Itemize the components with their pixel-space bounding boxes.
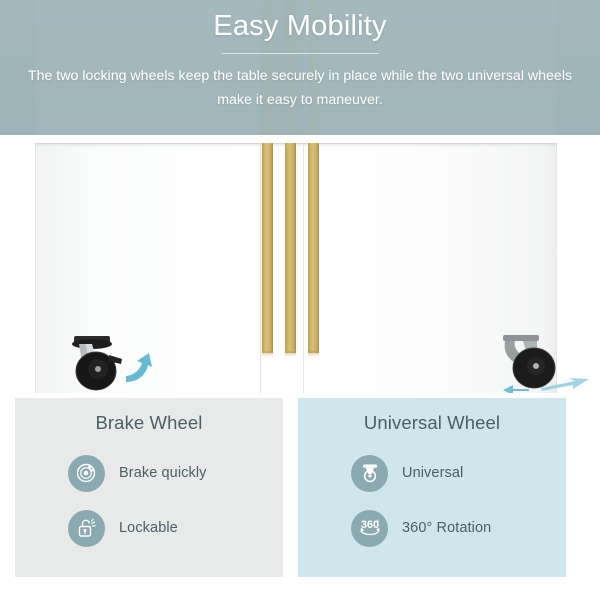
feature-360-rotation: 360 ° 360° Rotation (298, 503, 566, 553)
hero-banner: Easy Mobility The two locking wheels kee… (0, 0, 600, 135)
brake-disc-icon (68, 455, 105, 492)
universal-caster-wheel (497, 333, 597, 393)
cabinet-seam-left (260, 143, 261, 393)
feature-panels: Brake Wheel Brake quickly (0, 393, 600, 600)
feature-label: 360° Rotation (402, 520, 491, 536)
feature-universal: Universal (298, 448, 566, 498)
icon-360-degree: ° (376, 518, 379, 526)
feature-brake-quickly: Brake quickly (15, 448, 283, 498)
infographic-page: Easy Mobility The two locking wheels kee… (0, 0, 600, 600)
cabinet-seam-right (303, 143, 304, 393)
page-title: Easy Mobility (213, 8, 386, 44)
gold-stripe-1 (262, 143, 273, 353)
brake-caster-wheel (62, 335, 172, 393)
feature-label: Universal (402, 465, 463, 481)
title-divider (222, 53, 379, 54)
feature-label: Lockable (119, 520, 178, 536)
rotation-360-icon: 360 ° (351, 510, 388, 547)
gold-stripe-2 (285, 143, 296, 353)
caster-wheel-icon (351, 455, 388, 492)
hero-text-block: Easy Mobility The two locking wheels kee… (0, 0, 600, 135)
gold-stripe-3 (308, 143, 319, 353)
cabinet-top-shadow (35, 143, 557, 147)
panel-brake-wheel: Brake Wheel Brake quickly (15, 398, 283, 577)
page-subtitle: The two locking wheels keep the table se… (17, 65, 583, 112)
panel-universal-title: Universal Wheel (298, 412, 566, 434)
product-photo-band (0, 135, 600, 393)
feature-label: Brake quickly (119, 465, 207, 481)
panel-universal-wheel: Universal Wheel Universal 360 ° (298, 398, 566, 577)
panel-brake-title: Brake Wheel (15, 412, 283, 434)
padlock-open-icon (68, 510, 105, 547)
feature-lockable: Lockable (15, 503, 283, 553)
